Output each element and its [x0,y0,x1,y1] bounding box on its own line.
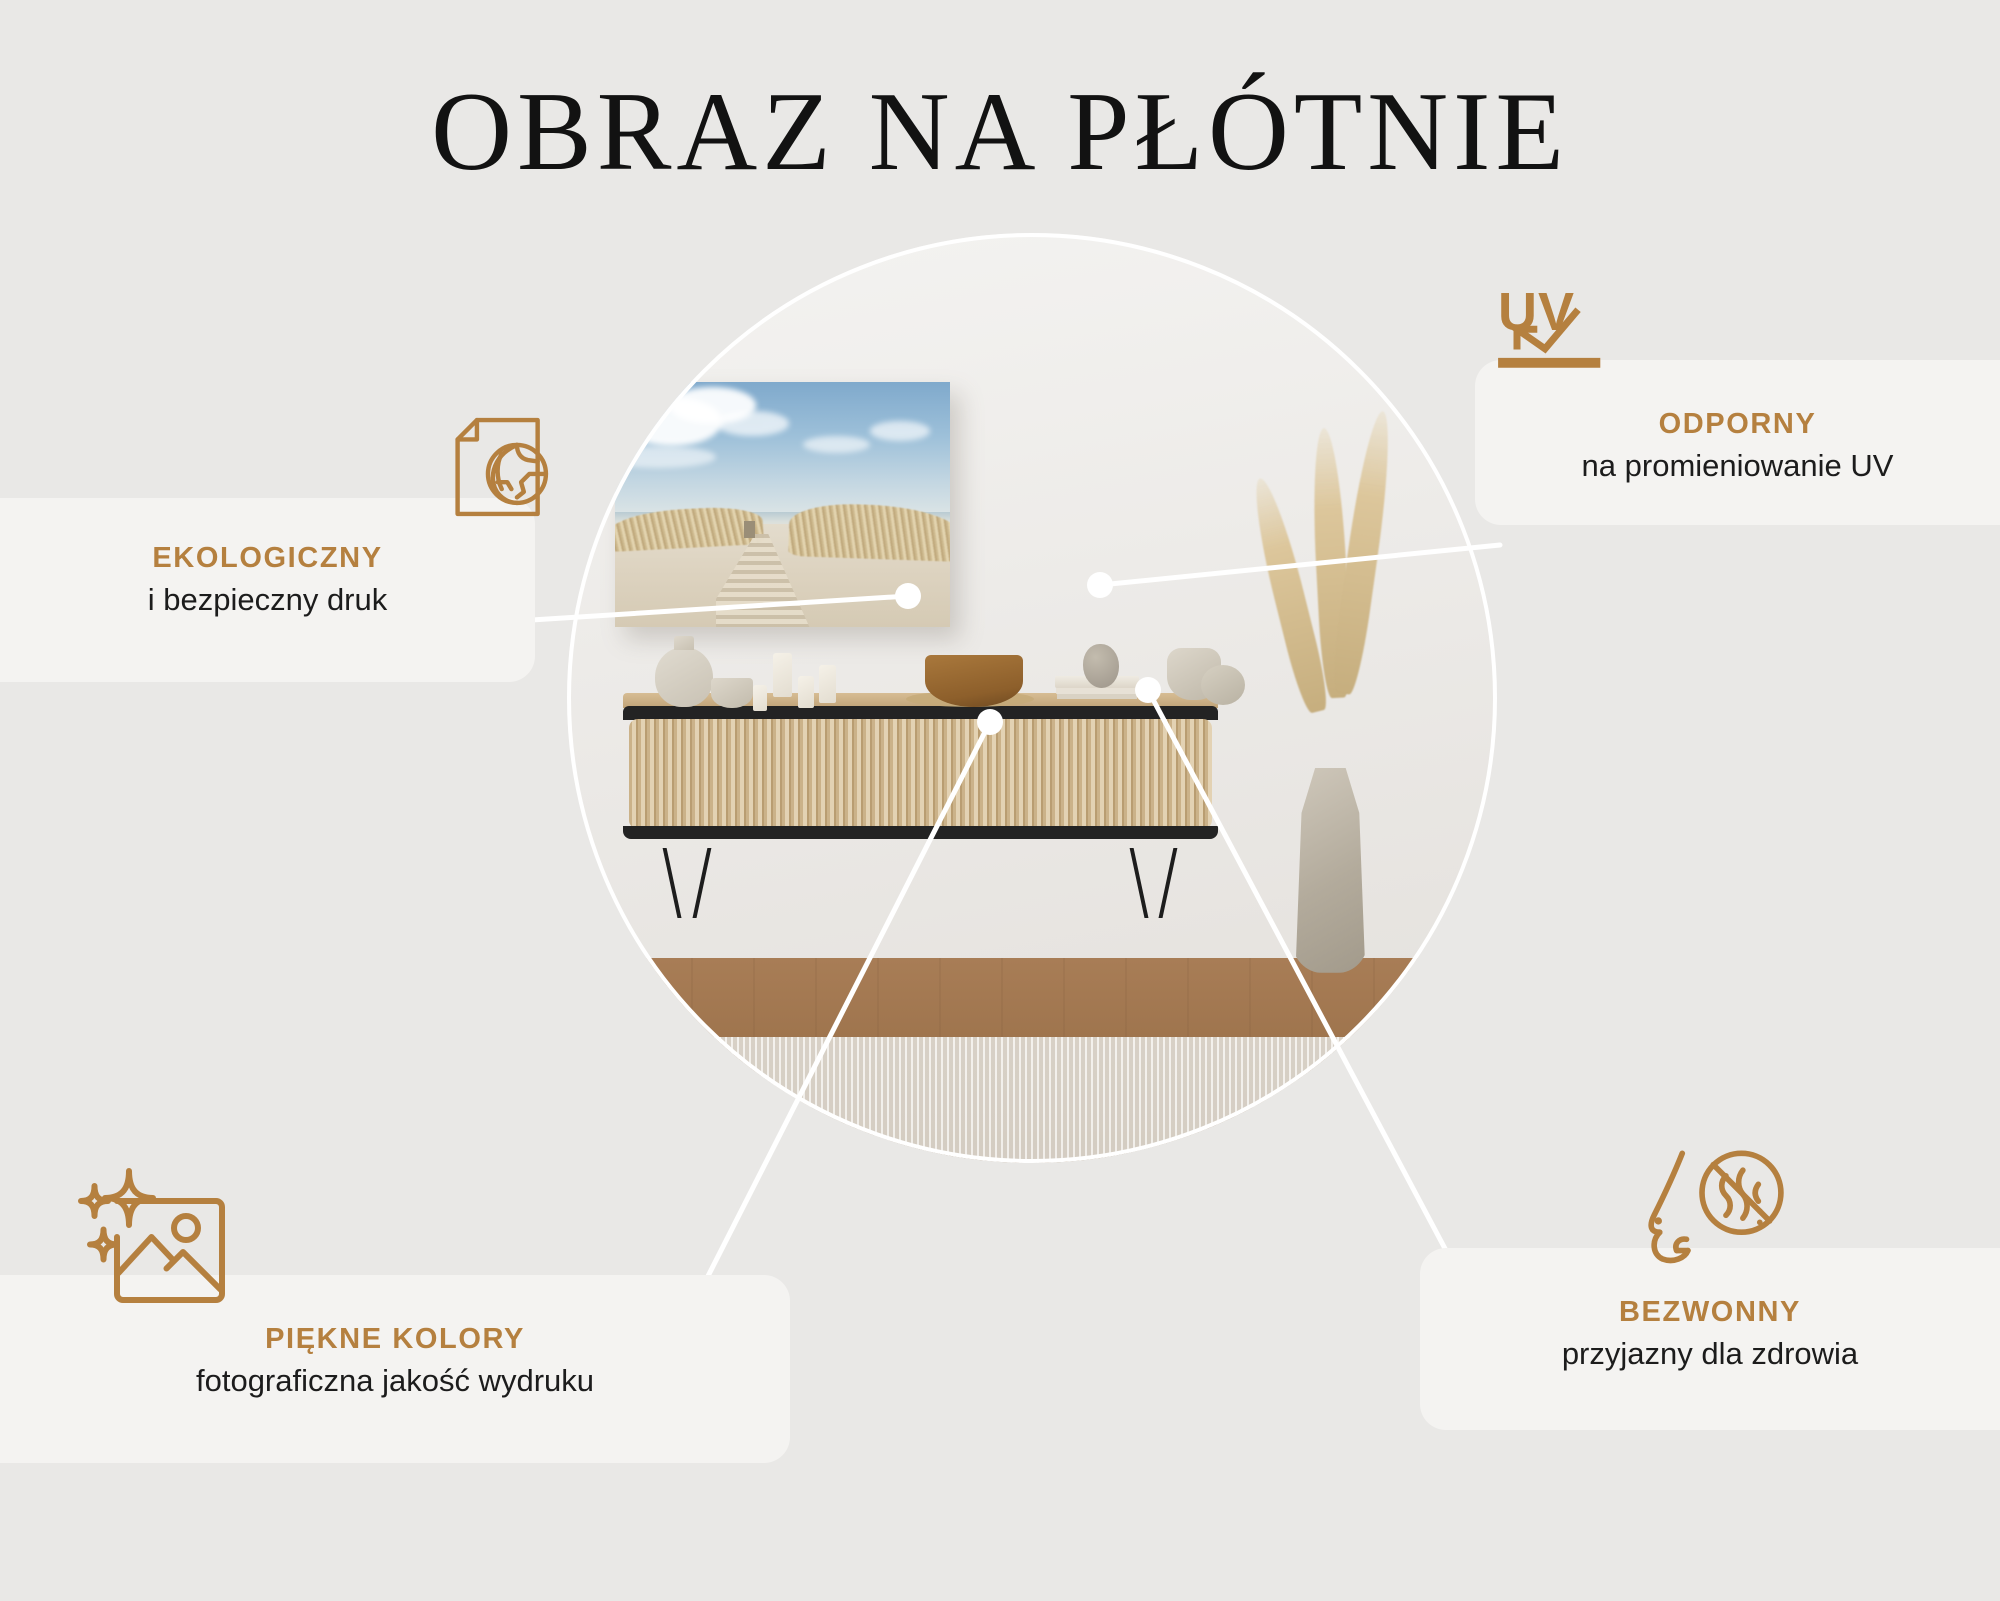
feature-sub-odorless: przyjazny dla zdrowia [1420,1335,2000,1374]
stone-sphere [1083,644,1119,688]
candle [753,685,767,711]
area-rug [567,1037,1497,1163]
candle [798,676,814,708]
product-scene [567,233,1497,1163]
no-odor-nose-icon [1640,1140,1795,1290]
feature-kicker-odorless: BEZWONNY [1420,1296,2000,1329]
artwork-cloud [803,436,870,453]
feature-sub-uv: na promieniowanie UV [1475,447,2000,486]
sideboard-fluted-front [629,719,1212,830]
artwork-cloud [870,421,930,441]
ceramic-vase [655,647,713,707]
sideboard-base [623,826,1218,839]
ceramic-bowl [711,678,753,708]
artwork-cloud [716,411,790,436]
feature-kicker-colors: PIĘKNE KOLORY [0,1323,790,1356]
candle [819,665,836,703]
vase-neck [674,636,694,650]
artwork-cloud [615,446,715,468]
interior-scene-image [567,233,1497,1163]
ceramic-pot [1201,665,1245,705]
page-title: OBRAZ NA PŁÓTNIE [0,74,2000,192]
sideboard-furniture [623,693,1218,851]
feature-sub-eco: i bezpieczny druk [0,581,535,620]
eco-document-globe-leaf-icon [430,398,568,541]
artwork-post [744,521,755,538]
brass-bowl [925,655,1023,707]
picture-sparkle-icon [72,1165,237,1320]
feature-kicker-eco: EKOLOGICZNY [0,542,535,575]
feature-sub-colors: fotograficzna jakość wydruku [0,1362,790,1401]
candle [773,653,792,697]
uv-text-label: UV [1498,281,1575,343]
canvas-artwork [615,382,950,628]
